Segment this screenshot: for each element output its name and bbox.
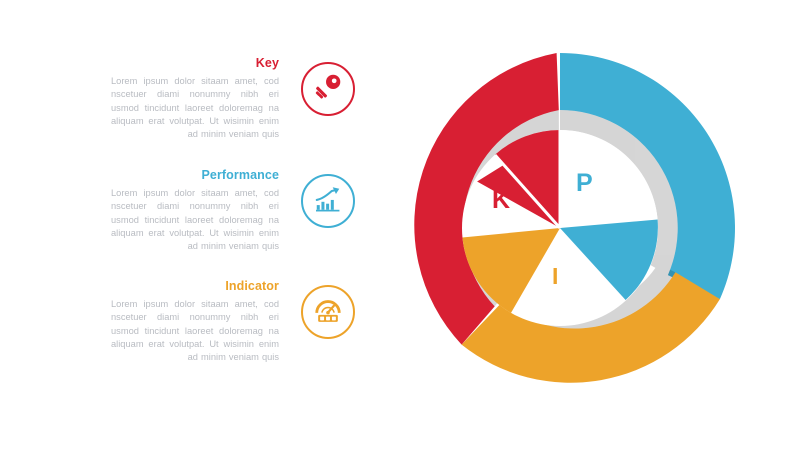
list-item-indicator[interactable]: Indicator Lorem ipsum dolor sitaam amet,… (85, 279, 355, 379)
list-item-key[interactable]: Key Lorem ipsum dolor sitaam amet, cod n… (85, 56, 355, 156)
list-item-text: Indicator Lorem ipsum dolor sitaam amet,… (111, 279, 279, 364)
list-item-description: Lorem ipsum dolor sitaam amet, cod nscet… (111, 298, 279, 364)
slice-letter-p: P (576, 171, 593, 196)
slice-letter-k: K (492, 188, 510, 213)
slice-letter-i: I (552, 264, 558, 289)
growth-chart-icon-circle[interactable] (301, 174, 355, 228)
list-item-title: Performance (111, 168, 279, 182)
infographic-canvas: Key Lorem ipsum dolor sitaam amet, cod n… (0, 0, 800, 450)
list-item-text: Key Lorem ipsum dolor sitaam amet, cod n… (111, 56, 279, 141)
list-item-text: Performance Lorem ipsum dolor sitaam ame… (111, 168, 279, 253)
list-item-description: Lorem ipsum dolor sitaam amet, cod nscet… (111, 75, 279, 141)
list-item-title: Key (111, 56, 279, 70)
list-item-title: Indicator (111, 279, 279, 293)
key-icon (313, 72, 343, 107)
list-item-description: Lorem ipsum dolor sitaam amet, cod nscet… (111, 187, 279, 253)
pie-chart-svg (380, 48, 740, 408)
gauge-icon-circle[interactable] (301, 285, 355, 339)
key-icon-circle[interactable] (301, 62, 355, 116)
gauge-icon (313, 295, 343, 330)
growth-chart-icon (313, 184, 343, 219)
list-item-performance[interactable]: Performance Lorem ipsum dolor sitaam ame… (85, 168, 355, 268)
kpi-pie-chart: K P I (380, 48, 740, 408)
